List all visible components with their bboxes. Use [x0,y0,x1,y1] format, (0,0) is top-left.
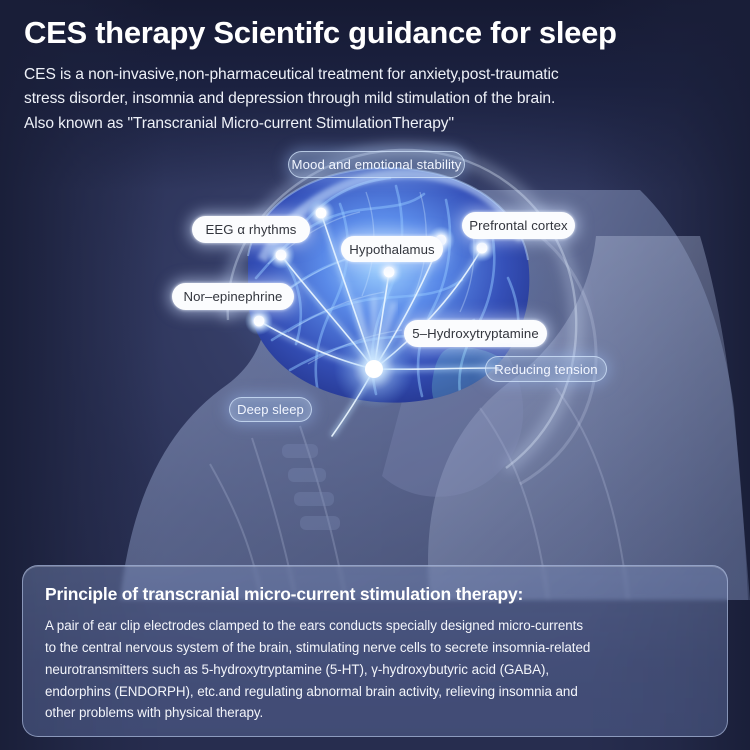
subtitle-line-1: CES is a non-invasive,non-pharmaceutical… [24,63,726,88]
principle-line-5: other problems with physical therapy. [45,702,705,724]
principle-card: Principle of transcranial micro-current … [22,565,728,737]
label-prefrontal-cortex[interactable]: Prefrontal cortex [462,212,575,239]
label-nor-epinephrine[interactable]: Nor–epinephrine [172,283,294,310]
page-title: CES therapy Scientifc guidance for sleep [24,14,726,53]
principle-line-1: A pair of ear clip electrodes clamped to… [45,615,705,637]
poster-canvas: Mood and emotional stability EEG α rhyth… [0,0,750,750]
label-reducing-tension[interactable]: Reducing tension [485,356,607,382]
principle-card-body: A pair of ear clip electrodes clamped to… [45,615,705,724]
label-mood-and-emotional-stability[interactable]: Mood and emotional stability [288,151,465,178]
label-eeg-alpha-rhythms[interactable]: EEG α rhythms [192,216,310,243]
head-anatomy-illustration [0,108,750,600]
principle-line-4: endorphins (ENDORPH), etc.and regulating… [45,681,705,703]
subtitle-line-2: stress disorder, insomnia and depression… [24,87,726,112]
principle-line-3: neurotransmitters such as 5-hydroxytrypt… [45,659,705,681]
label-5-hydroxytryptamine[interactable]: 5–Hydroxytryptamine [404,320,547,347]
header: CES therapy Scientifc guidance for sleep… [0,0,750,137]
principle-line-2: to the central nervous system of the bra… [45,637,705,659]
label-deep-sleep[interactable]: Deep sleep [229,397,312,422]
principle-card-title: Principle of transcranial micro-current … [45,584,705,605]
subtitle-line-3: Also known as "Transcranial Micro-curren… [24,112,726,137]
label-hypothalamus[interactable]: Hypothalamus [341,236,443,262]
page-subtitle: CES is a non-invasive,non-pharmaceutical… [24,63,726,137]
